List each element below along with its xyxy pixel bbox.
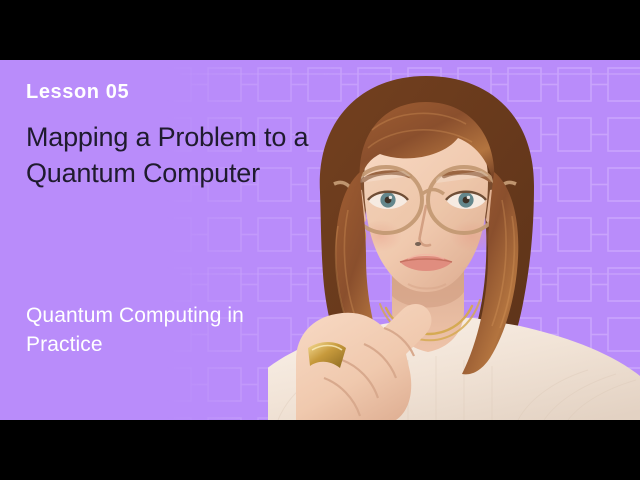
- slide-content-band: Lesson 05 Mapping a Problem to a Quantum…: [0, 60, 640, 420]
- lesson-eyebrow: Lesson 05: [26, 82, 326, 102]
- video-frame: Lesson 05 Mapping a Problem to a Quantum…: [0, 0, 640, 480]
- page-title: Mapping a Problem to a Quantum Computer: [26, 120, 326, 192]
- slide-text-block: Lesson 05 Mapping a Problem to a Quantum…: [26, 82, 326, 192]
- letterbox-bar-top: [0, 0, 640, 60]
- series-title: Quantum Computing in Practice: [26, 302, 276, 360]
- letterbox-bar-bottom: [0, 420, 640, 480]
